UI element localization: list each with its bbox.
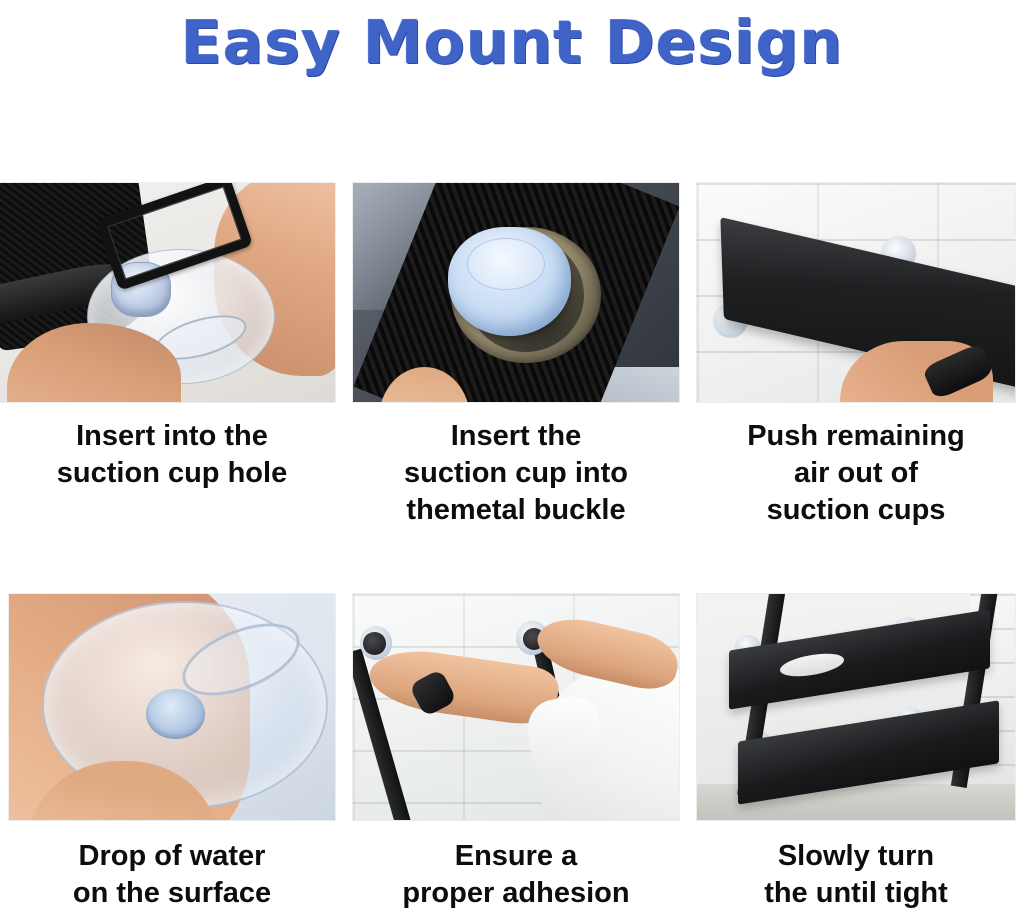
step-3-caption: Push remaining air out of suction cups — [688, 402, 1024, 528]
step-1-photo — [0, 183, 335, 402]
step-5-caption: Ensure a proper adhesion — [344, 820, 688, 912]
step-3-photo-wrap — [688, 183, 1024, 402]
left-cup-knob-shape — [363, 632, 386, 655]
step-3-caption-cell: Push remaining air out of suction cups — [688, 402, 1024, 594]
step-2-caption-cell: Insert the suction cup into themetal buc… — [344, 402, 688, 594]
step-1-photo-wrap — [0, 183, 344, 402]
step-6-cell — [688, 594, 1024, 820]
step-5-caption-cell: Ensure a proper adhesion — [344, 820, 688, 913]
step-4-photo-wrap — [0, 594, 344, 820]
step-5-photo-wrap — [344, 594, 688, 820]
step-3-cell — [688, 183, 1024, 402]
easy-mount-design-infographic: Easy Mount Design — [0, 0, 1024, 916]
step-6-caption: Slowly turn the until tight — [688, 820, 1024, 912]
step-6-photo — [697, 594, 1015, 820]
step-4-photo — [9, 594, 335, 820]
suction-cup-center-shape — [146, 689, 205, 739]
step-2-photo — [353, 183, 679, 402]
step-4-cell — [0, 594, 344, 820]
step-1-caption-cell: Insert into the suction cup hole — [0, 402, 344, 594]
steps-grid: Insert into the suction cup hole Insert … — [0, 183, 1024, 913]
step-2-photo-wrap — [344, 183, 688, 402]
step-6-caption-cell: Slowly turn the until tight — [688, 820, 1024, 913]
step-6-photo-wrap — [688, 594, 1024, 820]
blue-suction-cup-top-shape — [467, 238, 545, 291]
title-bar: Easy Mount Design — [0, 0, 1024, 86]
page-title: Easy Mount Design — [181, 8, 844, 78]
step-1-caption: Insert into the suction cup hole — [0, 402, 344, 492]
step-5-cell — [344, 594, 688, 820]
step-3-photo — [697, 183, 1015, 402]
step-2-caption: Insert the suction cup into themetal buc… — [344, 402, 688, 528]
step-2-cell — [344, 183, 688, 402]
step-1-cell — [0, 183, 344, 402]
step-4-caption: Drop of water on the surface — [0, 820, 344, 912]
step-4-caption-cell: Drop of water on the surface — [0, 820, 344, 913]
step-5-photo — [353, 594, 679, 820]
